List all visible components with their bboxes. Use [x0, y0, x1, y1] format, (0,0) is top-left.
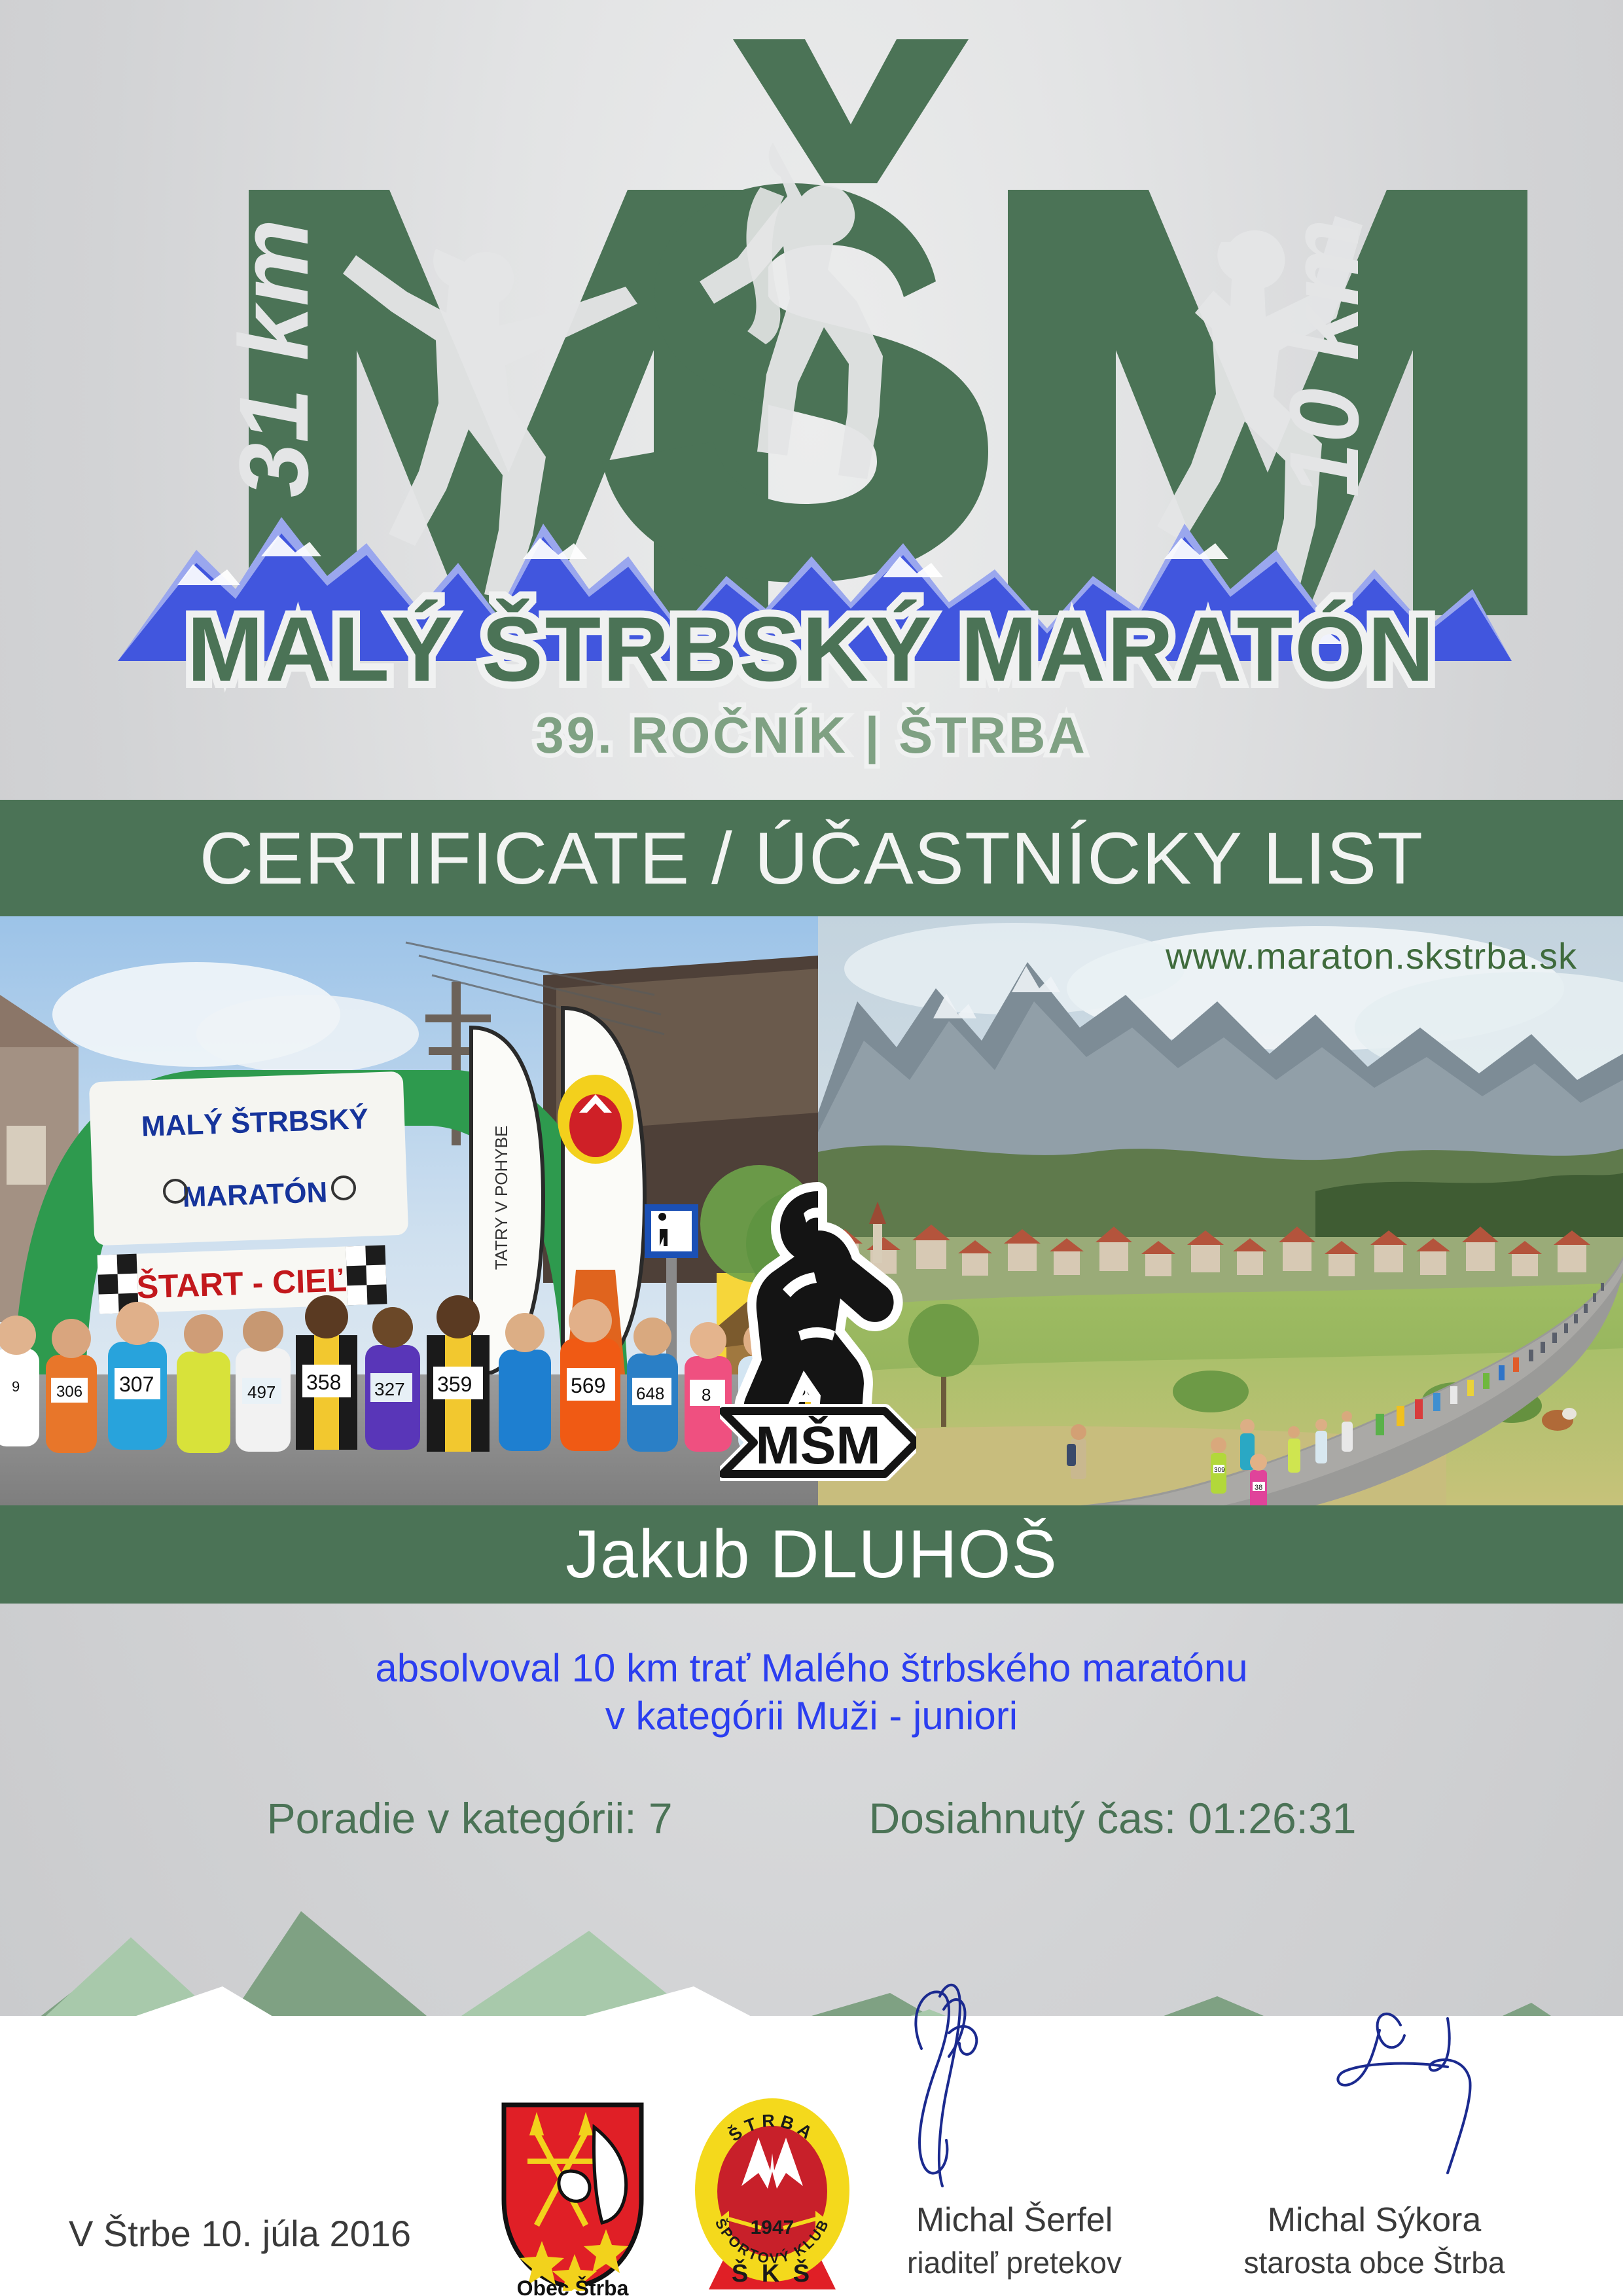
certificate-title: CERTIFICATE / ÚČASTNÍCKY LIST	[200, 816, 1423, 901]
runner-bib: 327	[374, 1379, 405, 1399]
footer: V Štrbe 10. júla 2016 Obec Štrba	[0, 2016, 1623, 2296]
event-logo: 31 km 10 km	[0, 0, 1623, 792]
arch-line-2: MARATÓN	[182, 1175, 328, 1213]
logo-edition: 39. ROČNÍK | ŠTRBA	[535, 706, 1088, 764]
results-row: Poradie v kategórii: 7 Dosiahnutý čas: 0…	[0, 1793, 1623, 1843]
runner-green-shirt: 309	[1211, 1437, 1226, 1494]
logo-letter-m-right: 10 km	[1008, 190, 1527, 615]
certificate-title-bar: CERTIFICATE / ÚČASTNÍCKY LIST	[0, 800, 1623, 916]
signature-role: starosta obce Štrba	[1204, 2245, 1544, 2280]
runner-bib: 569	[571, 1374, 605, 1397]
msm-wordmark: MŠM	[722, 1411, 916, 1475]
runner-bib: 358	[306, 1371, 341, 1394]
finish-time: Dosiahnutý čas: 01:26:31	[869, 1793, 1357, 1843]
signature-role: riaditeľ pretekov	[844, 2245, 1185, 2280]
website-url[interactable]: www.maraton.skstrba.sk	[1166, 935, 1577, 977]
sks-strba-club-logo: 1947 ŠTRBA ŠPORTOVÝ KLUB Š K Š	[690, 2093, 854, 2296]
photo-course-landscape: 309 38	[818, 916, 1623, 1505]
caron-icon	[733, 39, 969, 183]
club-bottom-text: Š K Š	[732, 2258, 813, 2287]
category-rank: Poradie v kategórii: 7	[267, 1793, 673, 1843]
flag-text: TATRY V POHYBE	[491, 1126, 511, 1270]
msm-runner-badge: MŠM	[720, 1172, 916, 1486]
issue-date: V Štrbe 10. júla 2016	[69, 2212, 411, 2255]
crest-label: Obec Štrba	[497, 2276, 648, 2296]
signature-director-icon	[844, 1970, 1185, 2206]
achievement-description: absolvoval 10 km trať Malého štrbského m…	[0, 1644, 1623, 1740]
description-line-1: absolvoval 10 km trať Malého štrbského m…	[0, 1644, 1623, 1692]
runner-bib: 8	[702, 1385, 711, 1405]
svg-text:9: 9	[12, 1378, 20, 1395]
msm-badge-text: MŠM	[755, 1416, 880, 1475]
runner-bib: 648	[636, 1384, 664, 1403]
photo-start-line: MALÝ ŠTRBSKÝ MARATÓN	[0, 916, 818, 1505]
runner-bib: 359	[437, 1372, 472, 1396]
club-year: 1947	[751, 2217, 794, 2238]
certificate-page: 31 km 10 km	[0, 0, 1623, 2296]
runner-pink-shirt: 38	[1250, 1454, 1267, 1505]
recipient-name: Jakub DLUHOŠ	[565, 1516, 1058, 1594]
logo-letter-s-center	[602, 39, 988, 583]
signature-name: Michal Šerfel	[844, 2200, 1185, 2240]
logo-left-distance: 31 km	[219, 219, 329, 497]
svg-text:497: 497	[247, 1382, 276, 1402]
runner-bib: 38	[1255, 1484, 1262, 1492]
runner-bib: 309	[1214, 1467, 1225, 1474]
description-line-2: v kategórii Muži - juniori	[0, 1692, 1623, 1740]
logo-right-distance: 10 km	[1269, 219, 1379, 497]
recipient-name-bar: Jakub DLUHOŠ	[0, 1505, 1623, 1604]
logo-event-name: MALÝ ŠTRBSKÝ MARATÓN	[187, 598, 1436, 700]
logo-graphic: 31 km 10 km	[0, 0, 1623, 792]
runner-bib: 307	[119, 1372, 154, 1396]
svg-text:306: 306	[56, 1383, 82, 1401]
obec-strba-crest-icon	[497, 2101, 648, 2291]
signature-mayor-icon	[1204, 1970, 1544, 2206]
signature-name: Michal Sýkora	[1204, 2200, 1544, 2240]
